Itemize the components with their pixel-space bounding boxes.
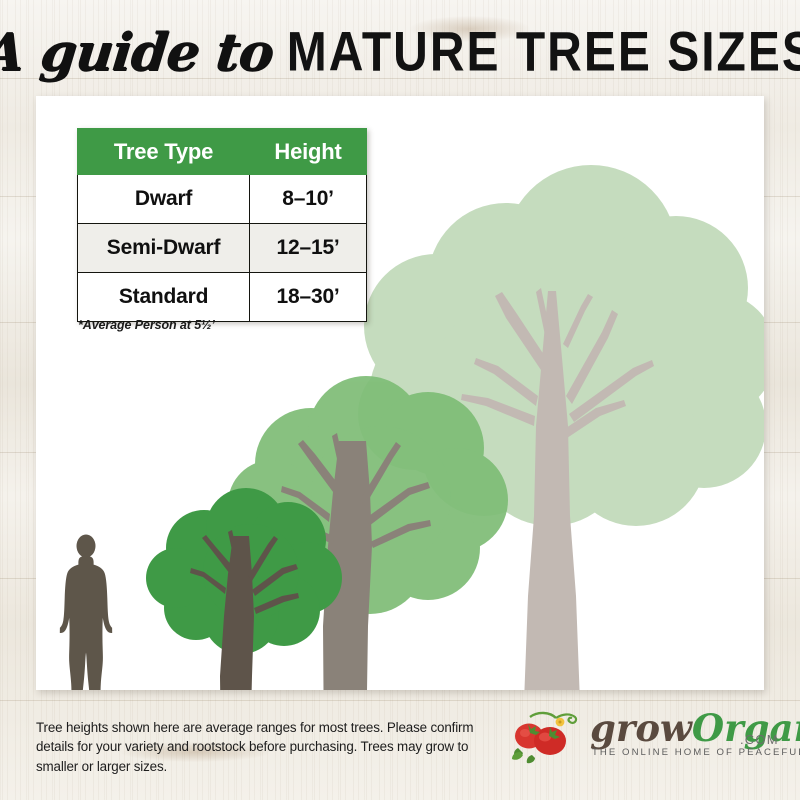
table-footnote: *Average Person at 5½’ [78, 318, 215, 332]
table-row: Semi-Dwarf 12–15’ [78, 224, 367, 273]
table-header-height: Height [250, 129, 367, 175]
table-cell-height: 12–15’ [250, 224, 367, 273]
tomato-icon [512, 708, 590, 768]
page-title-script: A guide to [0, 22, 276, 83]
page-title: A guide to MATURE TREE SIZES [0, 19, 800, 85]
wood-plank-line [0, 700, 800, 701]
table-cell-tree-type: Standard [78, 273, 250, 322]
grow-organic-logo[interactable]: growOrganic .COM THE ONLINE HOME OF PEAC… [512, 706, 788, 772]
page-title-block: MATURE TREE SIZES [287, 20, 800, 84]
logo-word-grow: grow [590, 706, 692, 750]
table-cell-tree-type: Semi-Dwarf [78, 224, 250, 273]
table-header-row: Tree Type Height [78, 129, 367, 175]
table-row: Standard 18–30’ [78, 273, 367, 322]
person-silhouette [60, 535, 112, 691]
logo-tagline: THE ONLINE HOME OF PEACEFUL VALLEY [592, 747, 800, 758]
illustration-card: Tree Type Height Dwarf 8–10’ Semi-Dwarf … [36, 96, 764, 690]
dwarf-tree [146, 488, 342, 690]
table-cell-height: 8–10’ [250, 175, 367, 224]
disclaimer-text: Tree heights shown here are average rang… [36, 718, 506, 776]
tree-size-table: Tree Type Height Dwarf 8–10’ Semi-Dwarf … [77, 128, 367, 322]
infographic-root: A guide to MATURE TREE SIZES [0, 0, 800, 800]
table-header-tree-type: Tree Type [78, 129, 250, 175]
table-cell-tree-type: Dwarf [78, 175, 250, 224]
logo-domain: .COM [740, 732, 779, 747]
table-cell-height: 18–30’ [250, 273, 367, 322]
table-row: Dwarf 8–10’ [78, 175, 367, 224]
